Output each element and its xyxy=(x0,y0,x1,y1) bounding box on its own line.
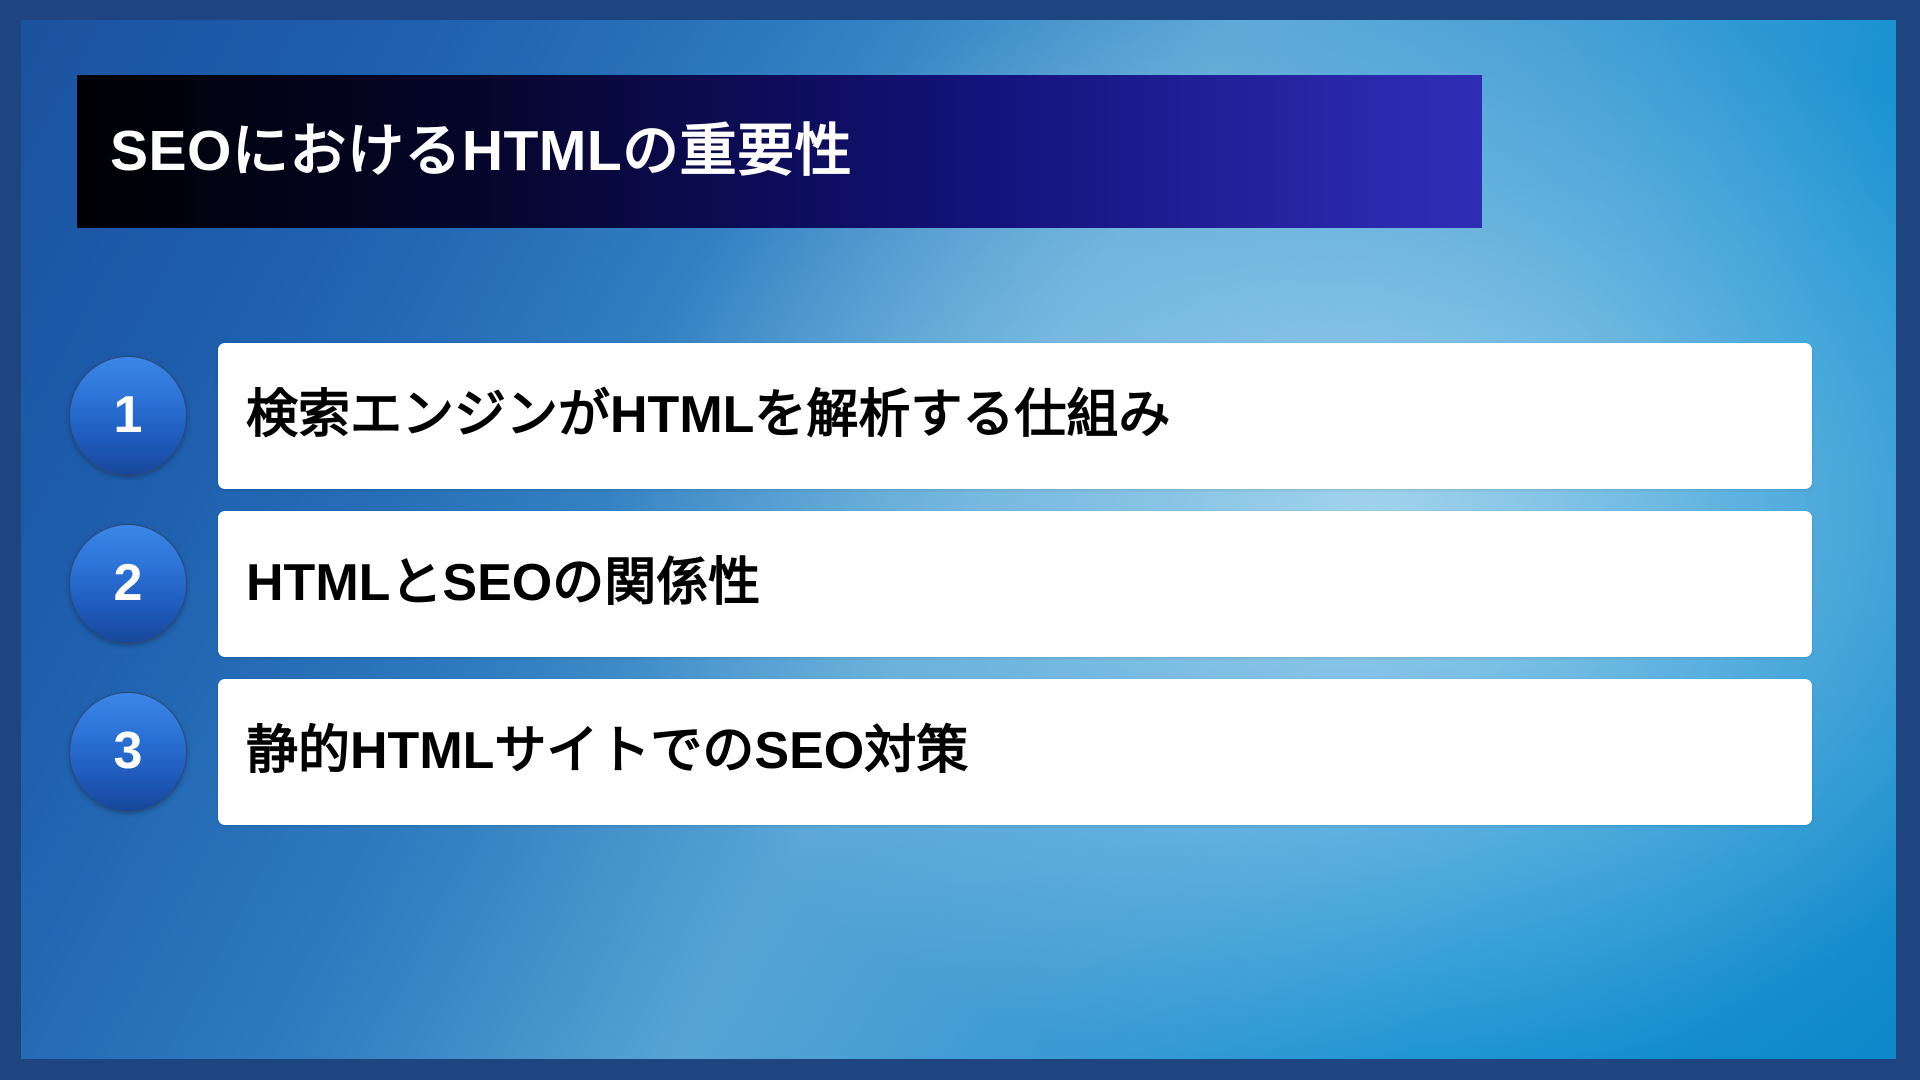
agenda-item-1[interactable]: 1 検索エンジンがHTMLを解析する仕組み xyxy=(21,304,1896,472)
slide-frame: SEOにおけるHTMLの重要性 1 検索エンジンがHTMLを解析する仕組み 2 … xyxy=(0,0,1920,1080)
agenda-number-2: 2 xyxy=(114,557,143,609)
agenda-card-2[interactable]: HTMLとSEOの関係性 xyxy=(218,511,1812,657)
agenda-card-3[interactable]: 静的HTMLサイトでのSEO対策 xyxy=(218,679,1812,825)
agenda-number-1: 1 xyxy=(114,389,143,441)
agenda-item-3[interactable]: 3 静的HTMLサイトでのSEO対策 xyxy=(21,640,1896,808)
agenda-item-2[interactable]: 2 HTMLとSEOの関係性 xyxy=(21,472,1896,640)
agenda-label-2: HTMLとSEOの関係性 xyxy=(218,554,760,614)
slide-title: SEOにおけるHTMLの重要性 xyxy=(77,120,852,183)
slide-title-bar: SEOにおけるHTMLの重要性 xyxy=(77,75,1482,228)
agenda-number-badge-2: 2 xyxy=(69,524,187,644)
agenda-label-1: 検索エンジンがHTMLを解析する仕組み xyxy=(218,386,1170,446)
agenda-number-3: 3 xyxy=(114,725,143,777)
slide-canvas: SEOにおけるHTMLの重要性 1 検索エンジンがHTMLを解析する仕組み 2 … xyxy=(21,20,1896,1059)
agenda-label-3: 静的HTMLサイトでのSEO対策 xyxy=(218,722,968,782)
agenda-number-badge-3: 3 xyxy=(69,692,187,812)
agenda-number-badge-1: 1 xyxy=(69,356,187,476)
agenda-card-1[interactable]: 検索エンジンがHTMLを解析する仕組み xyxy=(218,343,1812,489)
